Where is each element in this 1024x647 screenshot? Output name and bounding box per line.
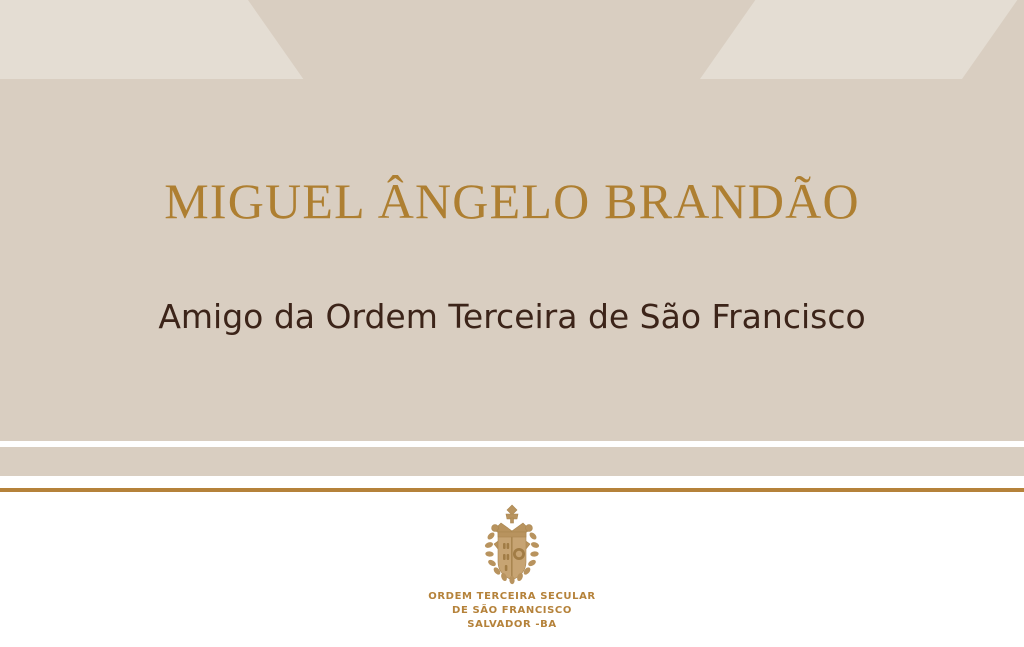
organization-caption: ORDEM TERCEIRA SECULAR DE SÃO FRANCISCO … (0, 590, 1024, 632)
page-title: MIGUEL ÂNGELO BRANDÃO (0, 176, 1024, 226)
decorative-parallelogram-right (700, 0, 1017, 79)
organization-line-1: ORDEM TERCEIRA SECULAR (0, 590, 1024, 604)
presentation-slide: MIGUEL ÂNGELO BRANDÃO Amigo da Ordem Ter… (0, 0, 1024, 647)
divider-beige-band (0, 447, 1024, 476)
slide-footer: ORDEM TERCEIRA SECULAR DE SÃO FRANCISCO … (0, 492, 1024, 647)
coat-of-arms-emblem (481, 504, 543, 588)
organization-line-3: SALVADOR -BA (0, 618, 1024, 632)
page-subtitle: Amigo da Ordem Terceira de São Francisco (0, 300, 1024, 333)
organization-line-2: DE SÃO FRANCISCO (0, 604, 1024, 618)
emblem-container (0, 504, 1024, 588)
decorative-parallelogram-left (0, 0, 303, 79)
divider-white-gap-bottom (0, 476, 1024, 488)
